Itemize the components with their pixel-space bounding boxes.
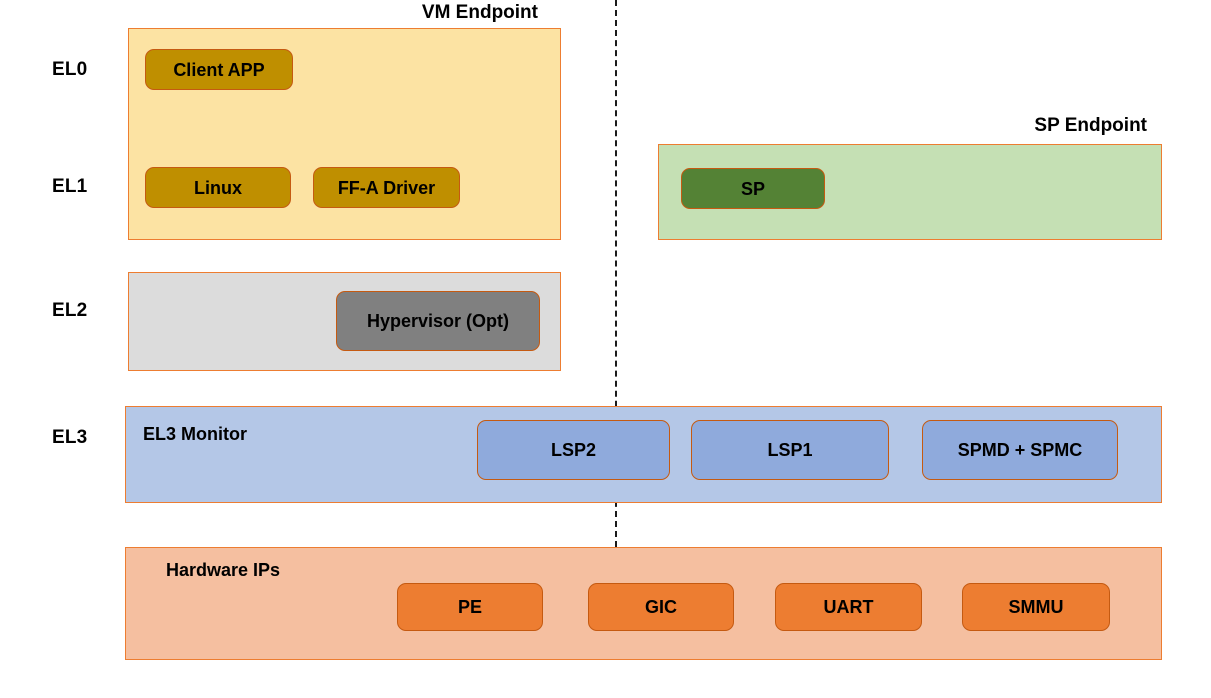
caption-vm-endpoint: VM Endpoint xyxy=(422,2,538,24)
hardware-ips-band-title: Hardware IPs xyxy=(166,560,280,581)
level-label-el2: EL2 xyxy=(52,300,87,322)
node-gic: GIC xyxy=(588,583,734,631)
caption-sp-endpoint: SP Endpoint xyxy=(1034,115,1147,137)
node-lsp2: LSP2 xyxy=(477,420,670,480)
node-client-app: Client APP xyxy=(145,49,293,90)
level-label-el1: EL1 xyxy=(52,176,87,198)
node-pe: PE xyxy=(397,583,543,631)
node-sp: SP xyxy=(681,168,825,209)
node-hypervisor: Hypervisor (Opt) xyxy=(336,291,540,351)
el3-band-title: EL3 Monitor xyxy=(143,424,247,445)
node-linux: Linux xyxy=(145,167,291,208)
architecture-diagram: EL0EL1EL2EL3VM EndpointSP EndpointClient… xyxy=(0,0,1211,698)
level-label-el3: EL3 xyxy=(52,427,87,449)
node-uart: UART xyxy=(775,583,922,631)
node-spmd-spmc: SPMD + SPMC xyxy=(922,420,1118,480)
node-ffa-driver: FF-A Driver xyxy=(313,167,460,208)
level-label-el0: EL0 xyxy=(52,59,87,81)
node-smmu: SMMU xyxy=(962,583,1110,631)
node-lsp1: LSP1 xyxy=(691,420,889,480)
